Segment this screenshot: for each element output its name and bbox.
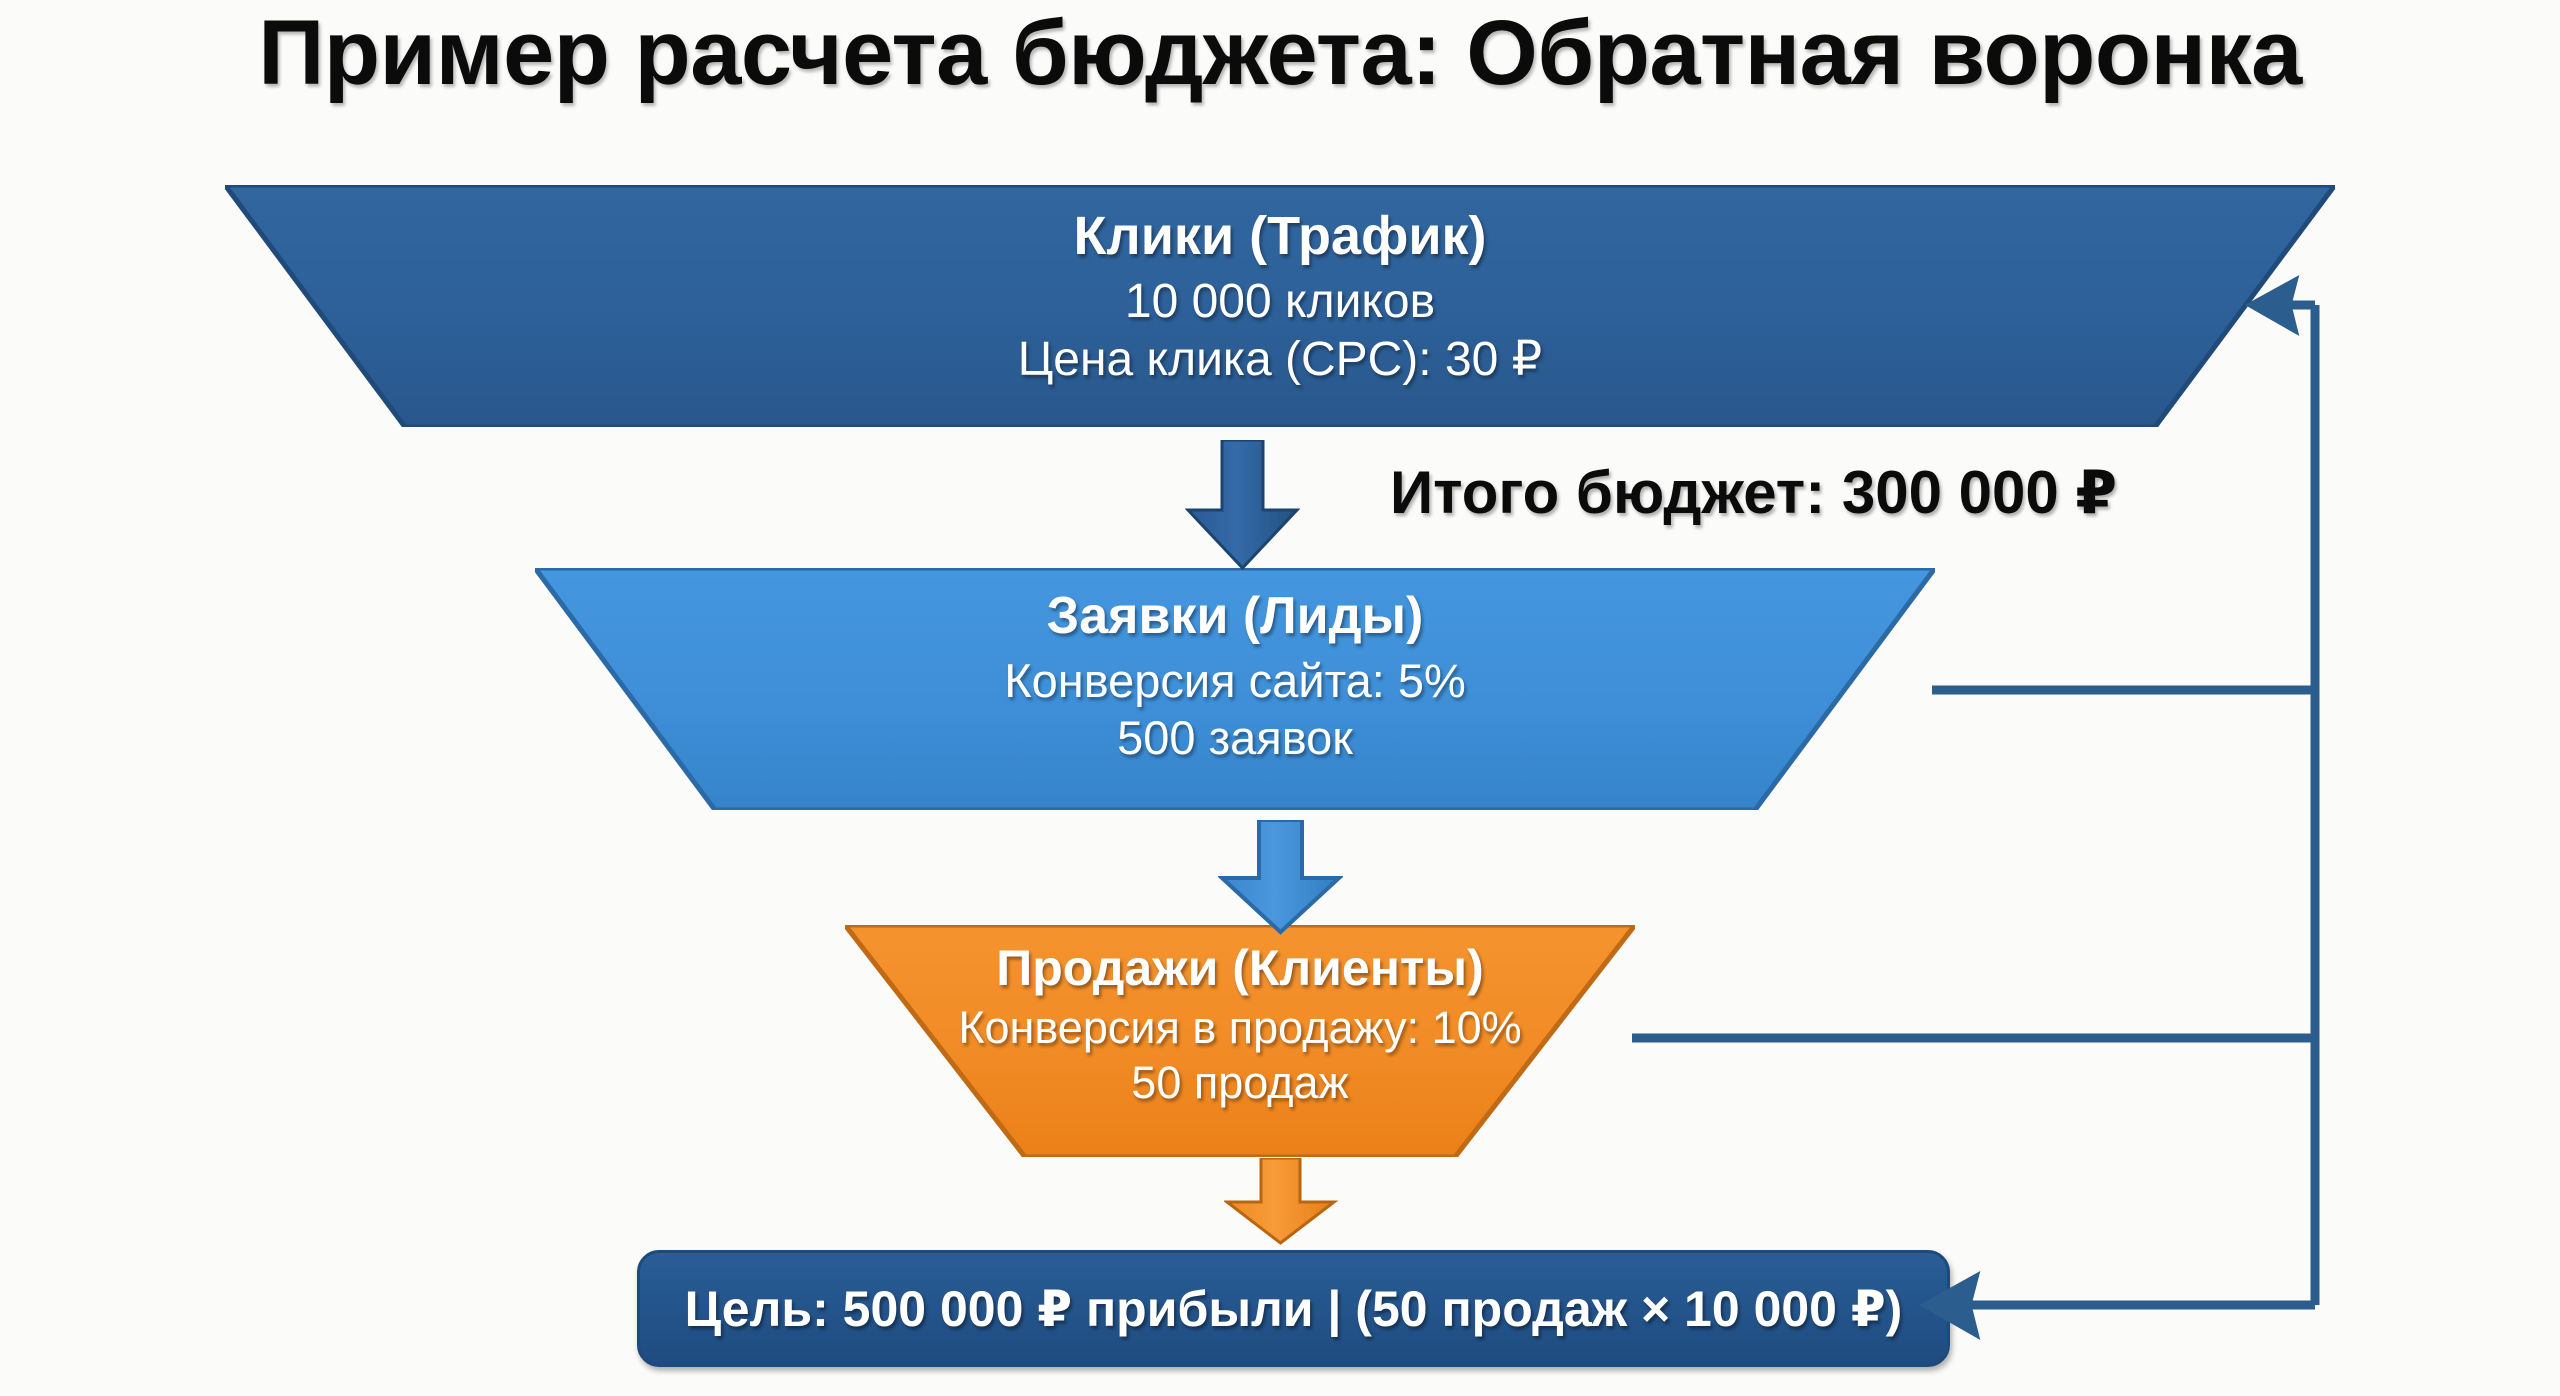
stage-leads-trapezoid [535,568,1935,810]
budget-caption: Итого бюджет: 300 000 ₽ [1390,458,2117,528]
funnel-stage-sales[interactable]: Продажи (Клиенты) Конверсия в продажу: 1… [845,925,1635,1157]
funnel-stage-leads[interactable]: Заявки (Лиды) Конверсия сайта: 5% 500 за… [535,568,1935,810]
arrow-sales-to-goal [1224,1158,1339,1246]
funnel-stage-clicks[interactable]: Клики (Трафик) 10 000 кликов Цена клика … [225,185,2335,427]
stage-clicks-trapezoid [225,185,2335,427]
arrow-leads-to-sales [1218,820,1343,935]
funnel-diagram-canvas: Пример расчета бюджета: Обратная воронка… [0,0,2560,1396]
goal-text: Цель: 500 000 ₽ прибыли | (50 продаж × 1… [685,1280,1903,1338]
goal-box[interactable]: Цель: 500 000 ₽ прибыли | (50 продаж × 1… [637,1250,1950,1367]
arrow-clicks-to-leads [1185,440,1300,570]
stage-sales-trapezoid [845,925,1635,1157]
page-title: Пример расчета бюджета: Обратная воронка [0,4,2560,103]
